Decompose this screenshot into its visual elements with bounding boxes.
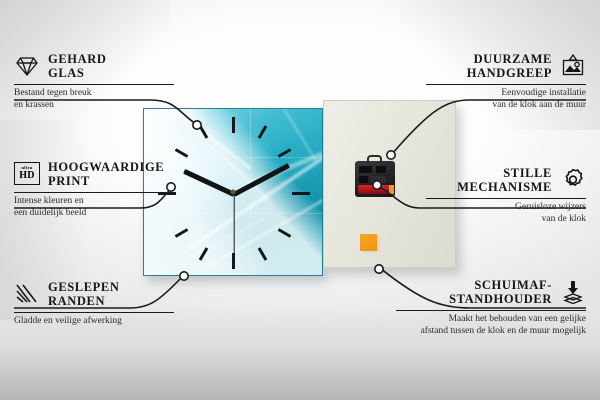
- divider: [14, 84, 174, 85]
- mechanism-detail: [359, 166, 372, 173]
- hour-marker: [258, 247, 268, 261]
- mechanism-detail: [371, 176, 386, 183]
- hour-marker: [258, 125, 268, 139]
- feature-description: Intense kleuren en een duidelijk beeld: [14, 196, 174, 219]
- feature-description: Geruisloze wijzers van de klok: [426, 202, 586, 225]
- second-hand: [233, 194, 234, 256]
- feature-geslepen-randen[interactable]: GESLEPEN RANDEN Gladde en veilige afwerk…: [14, 280, 174, 328]
- mechanism-hook-icon: [367, 155, 382, 163]
- feature-title: DUURZAME HANDGREEP: [426, 52, 552, 80]
- battery: [358, 185, 391, 194]
- ultra-hd-icon: ultra HD: [14, 162, 40, 186]
- feature-description: Eenvoudige installatie van de klok aan d…: [426, 88, 586, 111]
- feature-title: GESLEPEN RANDEN: [48, 280, 120, 308]
- feature-hoogwaardige-print[interactable]: ultra HD HOOGWAARDIGE PRINT Intense kleu…: [14, 160, 174, 219]
- glass-reflection-line: [250, 109, 251, 275]
- glass-reflection-line: [144, 157, 322, 158]
- divider: [14, 312, 174, 313]
- divider: [396, 310, 586, 311]
- feature-stille-mechanisme[interactable]: STILLE MECHANISME Geruisloze wijzers van…: [426, 166, 586, 225]
- glass-reflection-line: [190, 109, 191, 275]
- feature-description: Gladde en veilige afwerking: [14, 316, 174, 328]
- feature-title: STILLE MECHANISME: [426, 166, 552, 194]
- spacer-arrow-icon: [560, 280, 586, 304]
- infographic-canvas: GEHARD GLAS Bestand tegen breuk en krass…: [0, 0, 600, 400]
- hour-marker: [278, 228, 292, 238]
- feature-duurzame-handgreep[interactable]: DUURZAME HANDGREEP Eenvoudige installati…: [426, 52, 586, 111]
- divider: [14, 192, 174, 193]
- clock-hub: [231, 190, 236, 195]
- gear-icon: [560, 168, 586, 192]
- feature-title: GEHARD GLAS: [48, 52, 106, 80]
- feature-gehard-glas[interactable]: GEHARD GLAS Bestand tegen breuk en krass…: [14, 52, 174, 111]
- feather-streak: [187, 152, 323, 250]
- clock-mechanism: [355, 161, 395, 197]
- hd-icon-main-text: HD: [19, 171, 34, 181]
- mechanism-detail: [359, 176, 368, 183]
- feature-schuimaf-standhouder[interactable]: SCHUIMAF- STANDHOUDER Maakt het behouden…: [396, 278, 586, 337]
- divider: [426, 198, 586, 199]
- diamond-icon: [14, 54, 40, 78]
- foam-spacer: [360, 234, 377, 251]
- edge-lines-icon: [14, 282, 40, 306]
- feature-description: Bestand tegen breuk en krassen: [14, 88, 174, 111]
- mechanism-detail: [376, 166, 386, 173]
- battery-positive-terminal: [389, 185, 394, 194]
- hour-marker: [232, 117, 235, 133]
- divider: [426, 84, 586, 85]
- feature-title: SCHUIMAF- STANDHOUDER: [396, 278, 552, 306]
- feature-description: Maakt het behouden van een gelijke afsta…: [396, 314, 586, 337]
- hour-marker: [292, 192, 310, 195]
- feature-title: HOOGWAARDIGE PRINT: [48, 160, 164, 188]
- picture-hanger-icon: [560, 54, 586, 78]
